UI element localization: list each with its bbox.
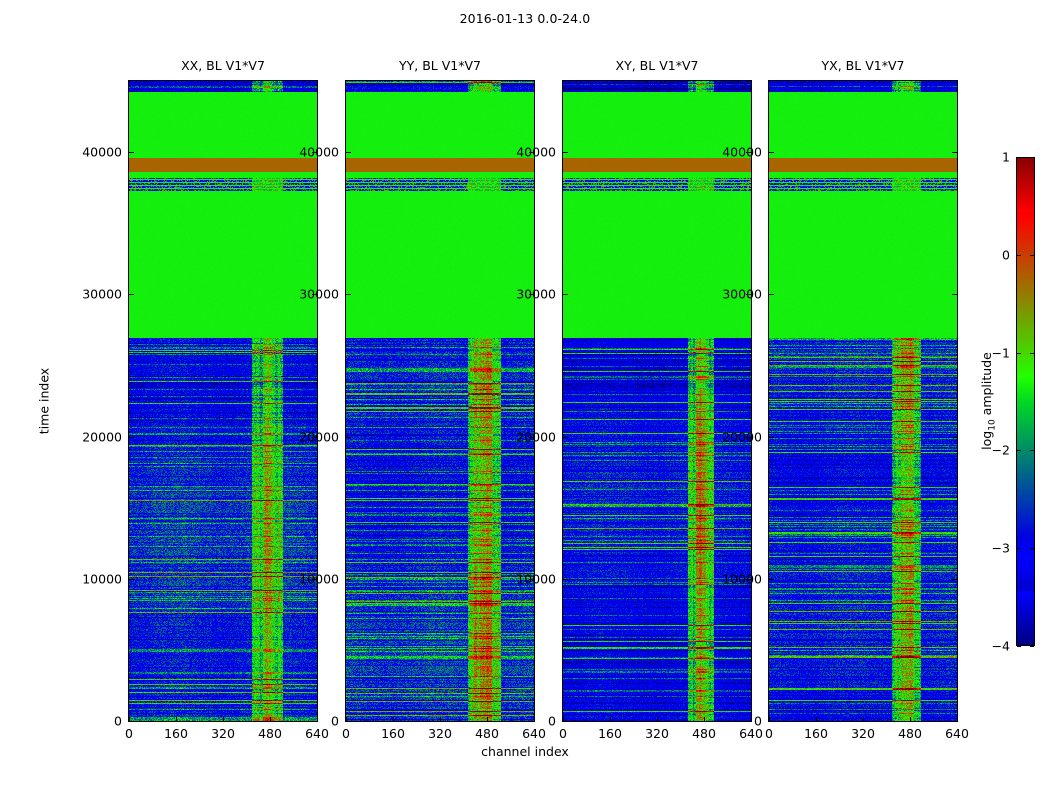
y-tick-mark	[952, 721, 957, 722]
x-tick-label: 0	[765, 726, 773, 741]
y-tick-label: 10000	[56, 572, 122, 587]
y-tick-label: 40000	[273, 145, 339, 160]
y-tick-label: 10000	[273, 572, 339, 587]
y-tick-mark	[129, 437, 134, 438]
x-tick-label: 160	[804, 726, 828, 741]
colorbar-tick-mark	[1030, 646, 1034, 647]
x-tick-mark	[223, 717, 224, 722]
x-tick-mark	[910, 717, 911, 722]
colorbar-tick-mark	[1030, 157, 1034, 158]
y-tick-mark	[129, 721, 134, 722]
y-tick-mark	[769, 152, 774, 153]
colorbar-tick-label: 1	[970, 150, 1010, 165]
x-tick-mark	[176, 717, 177, 722]
y-tick-mark	[563, 437, 568, 438]
y-tick-mark	[346, 721, 351, 722]
y-tick-mark	[129, 294, 134, 295]
waterfall-panel-yx[interactable]	[768, 80, 958, 722]
x-tick-mark	[487, 717, 488, 722]
colorbar[interactable]	[1016, 157, 1035, 646]
colorbar-tick-mark	[1030, 255, 1034, 256]
figure-canvas: 2016-01-13 0.0-24.0 XX, BL V1*V701603204…	[0, 0, 1050, 800]
colorbar-tick-mark	[1017, 255, 1021, 256]
y-tick-label: 0	[273, 714, 339, 729]
y-tick-label: 10000	[696, 572, 762, 587]
x-tick-mark	[393, 717, 394, 722]
x-tick-mark	[863, 717, 864, 722]
y-tick-mark	[769, 579, 774, 580]
colorbar-tick-label: 0	[970, 247, 1010, 262]
colorbar-label: log10 amplitude	[979, 352, 998, 450]
y-tick-mark	[346, 437, 351, 438]
y-tick-mark	[952, 579, 957, 580]
y-tick-mark	[563, 579, 568, 580]
x-tick-label: 320	[645, 726, 669, 741]
x-tick-label: 480	[898, 726, 922, 741]
colorbar-tick-mark	[1017, 450, 1021, 451]
y-tick-mark	[346, 152, 351, 153]
y-tick-mark	[346, 579, 351, 580]
y-tick-label: 0	[490, 714, 556, 729]
y-tick-mark	[129, 579, 134, 580]
x-tick-label: 160	[164, 726, 188, 741]
y-tick-mark	[952, 437, 957, 438]
waterfall-image-xx	[129, 81, 317, 721]
colorbar-tick-label: −3	[970, 541, 1010, 556]
y-tick-mark	[563, 294, 568, 295]
x-tick-mark	[270, 717, 271, 722]
panel-title-xx: XX, BL V1*V7	[128, 58, 318, 73]
colorbar-tick-mark	[1030, 450, 1034, 451]
y-tick-label: 30000	[56, 287, 122, 302]
x-axis-label: channel index	[0, 744, 1050, 759]
colorbar-label-tail: amplitude	[979, 352, 994, 419]
x-tick-label: 0	[559, 726, 567, 741]
x-tick-mark	[657, 717, 658, 722]
y-tick-label: 20000	[56, 430, 122, 445]
x-tick-label: 320	[851, 726, 875, 741]
colorbar-tick-mark	[1030, 548, 1034, 549]
colorbar-tick-mark	[1030, 353, 1034, 354]
x-tick-label: 320	[211, 726, 235, 741]
x-tick-label: 160	[381, 726, 405, 741]
x-tick-label: 320	[428, 726, 452, 741]
y-tick-label: 20000	[273, 430, 339, 445]
y-tick-mark	[346, 294, 351, 295]
waterfall-image-yy	[346, 81, 534, 721]
colorbar-label-subscript: 10	[987, 419, 997, 430]
figure-suptitle: 2016-01-13 0.0-24.0	[0, 11, 1050, 26]
y-tick-label: 30000	[490, 287, 556, 302]
waterfall-image-yx	[769, 81, 957, 721]
y-tick-label: 40000	[696, 145, 762, 160]
colorbar-tick-mark	[1017, 157, 1021, 158]
y-tick-label: 10000	[490, 572, 556, 587]
y-tick-mark	[563, 152, 568, 153]
x-tick-label: 0	[125, 726, 133, 741]
y-tick-mark	[769, 721, 774, 722]
waterfall-image-xy	[563, 81, 751, 721]
y-tick-mark	[952, 152, 957, 153]
y-tick-label: 20000	[696, 430, 762, 445]
y-tick-mark	[769, 437, 774, 438]
waterfall-panel-xy[interactable]	[562, 80, 752, 722]
x-tick-mark	[610, 717, 611, 722]
colorbar-label-text: log	[979, 431, 994, 450]
x-tick-label: 640	[945, 726, 969, 741]
x-tick-mark	[816, 717, 817, 722]
y-tick-label: 30000	[273, 287, 339, 302]
y-tick-mark	[129, 152, 134, 153]
panel-title-yx: YX, BL V1*V7	[768, 58, 958, 73]
colorbar-gradient	[1017, 158, 1034, 645]
colorbar-tick-label: −4	[970, 639, 1010, 654]
y-tick-mark	[769, 294, 774, 295]
y-tick-label: 20000	[490, 430, 556, 445]
y-tick-label: 40000	[490, 145, 556, 160]
x-tick-label: 0	[342, 726, 350, 741]
waterfall-panel-xx[interactable]	[128, 80, 318, 722]
colorbar-tick-mark	[1017, 353, 1021, 354]
panel-title-xy: XY, BL V1*V7	[562, 58, 752, 73]
x-tick-mark	[440, 717, 441, 722]
x-tick-label: 160	[598, 726, 622, 741]
y-axis-label: time index	[37, 368, 52, 434]
colorbar-tick-mark	[1017, 548, 1021, 549]
waterfall-panel-yy[interactable]	[345, 80, 535, 722]
colorbar-tick-mark	[1017, 646, 1021, 647]
y-tick-label: 30000	[696, 287, 762, 302]
x-tick-mark	[957, 717, 958, 722]
y-tick-label: 40000	[56, 145, 122, 160]
y-tick-label: 0	[696, 714, 762, 729]
y-tick-label: 0	[56, 714, 122, 729]
y-tick-mark	[952, 294, 957, 295]
y-tick-mark	[563, 721, 568, 722]
panel-title-yy: YY, BL V1*V7	[345, 58, 535, 73]
